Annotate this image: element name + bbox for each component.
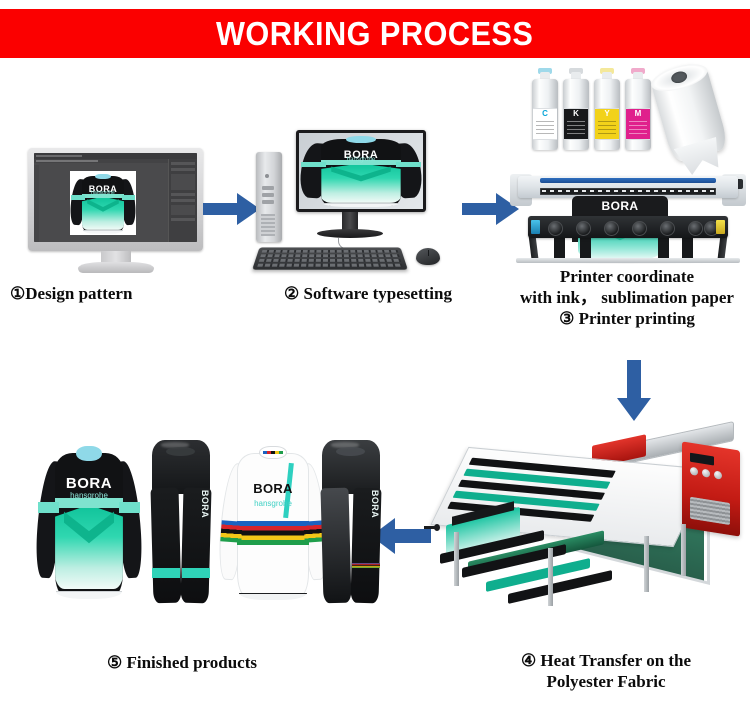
tights-brand-logo: BORA xyxy=(200,490,209,507)
power-led xyxy=(265,174,269,178)
jersey-cuff-left xyxy=(71,195,84,199)
printer-carriage-housing xyxy=(518,176,738,198)
machine-leg xyxy=(681,524,686,576)
tights-waist xyxy=(322,440,380,494)
working-process-infographic: WORKING PROCESS xyxy=(0,0,750,722)
printer-base xyxy=(516,258,740,263)
jersey-artwork: BORA hansgrohe xyxy=(36,440,142,602)
tights-artwork: BORA xyxy=(148,440,214,600)
ink-letter: C xyxy=(533,110,557,118)
jersey-brand-sublabel: hansgrohe xyxy=(87,191,119,196)
drive-slot xyxy=(262,193,274,197)
monitor-neck xyxy=(342,212,358,230)
tights-artwork: BORA xyxy=(318,440,384,600)
step-2-software-typesetting-visual: BORA hansgrohe xyxy=(250,130,450,275)
step-4-caption: ④ Heat Transfer on the Polyester Fabric xyxy=(486,650,726,692)
printer-blue-trim xyxy=(540,178,716,183)
sublimation-paper-roll xyxy=(648,57,741,179)
printer-print-slot xyxy=(540,188,716,195)
tights-leg-left xyxy=(320,488,351,604)
bottle-neck xyxy=(540,72,550,79)
cabinet-knob[interactable] xyxy=(702,469,710,478)
ink-bottle-group: C K Y xyxy=(532,62,652,150)
machine-leg xyxy=(548,548,553,606)
arrow-step3-to-step4-icon xyxy=(616,360,652,422)
ink-tank-cap xyxy=(604,221,619,236)
cabinet-display xyxy=(690,453,714,466)
step-5-finished-products-visual: BORA hansgrohe BORA xyxy=(24,440,364,610)
jersey-brand-sublabel: hansgrohe xyxy=(331,157,391,163)
bottle-label: Y xyxy=(595,108,619,140)
bottle-label: M xyxy=(626,108,650,140)
product-jersey-black-teal: BORA hansgrohe xyxy=(36,440,142,602)
tights-cuff-right xyxy=(182,568,210,578)
jersey-rainbow-stripes-sleeve-left xyxy=(220,520,243,542)
desktop-monitor: BORA hansgrohe xyxy=(296,130,426,212)
product-jersey-white-rainbow: BORA hansgrohe xyxy=(220,440,326,602)
computer-mouse xyxy=(416,248,440,265)
jersey-cuff-left xyxy=(38,502,59,513)
ink-letter: Y xyxy=(595,110,619,118)
wide-format-printer: BORA xyxy=(510,172,746,264)
ink-bottle-black: K xyxy=(563,72,589,150)
design-canvas: BORA hansgrohe xyxy=(70,171,136,235)
machine-leg xyxy=(644,536,649,592)
printed-fabric-brand: BORA xyxy=(576,200,664,212)
bottle-neck xyxy=(602,72,612,79)
product-tights-black: BORA xyxy=(148,440,214,600)
tights-rainbow-stripes xyxy=(352,563,380,568)
printer-fabric-strap xyxy=(658,236,669,260)
jersey-brand-logo: BORA xyxy=(243,482,302,495)
bottle-label: K xyxy=(564,108,588,140)
software-panels xyxy=(168,159,197,242)
monitor-base xyxy=(78,262,154,273)
jersey-rainbow-stripes xyxy=(237,521,309,545)
monitor-screen: BORA hansgrohe xyxy=(299,133,423,209)
jersey-cuff-right xyxy=(122,195,135,199)
bottle-neck xyxy=(633,72,643,79)
jersey-collar xyxy=(346,136,376,143)
ink-tank-cap xyxy=(548,221,563,236)
drive-slot xyxy=(262,200,274,204)
jersey-brand-sublabel: hansgrohe xyxy=(243,500,302,508)
printer-fabric-strap xyxy=(554,236,565,260)
jersey-artwork: BORA hansgrohe xyxy=(299,133,423,209)
jersey-hem xyxy=(83,230,124,234)
step-3-caption: Printer coordinate with ink， sublimation… xyxy=(508,266,746,329)
ink-tank-badge-right xyxy=(716,220,725,234)
ink-tank-badge-left xyxy=(531,220,540,234)
ink-bottle-magenta: M xyxy=(625,72,651,150)
printer-fabric-strap xyxy=(580,236,591,260)
tights-brand-logo: BORA xyxy=(370,490,379,507)
tights-pad xyxy=(166,447,195,457)
product-tights-black-grey: BORA xyxy=(318,440,384,600)
ink-tank-cap xyxy=(576,221,591,236)
jersey-cuff-left xyxy=(301,162,326,167)
monitor-base xyxy=(317,229,383,238)
ink-bottle-yellow: Y xyxy=(594,72,620,150)
cabinet-knob[interactable] xyxy=(690,467,698,476)
ink-tank-cap xyxy=(688,221,703,236)
jersey-collar xyxy=(259,446,287,459)
step-5-caption: ⑤ Finished products xyxy=(52,652,312,673)
jersey-brand-sublabel: hansgrohe xyxy=(64,492,115,500)
jersey-collar xyxy=(76,446,101,461)
cabinet-knob[interactable] xyxy=(714,470,722,479)
tights-waist xyxy=(152,440,210,494)
header-banner: WORKING PROCESS xyxy=(0,9,750,58)
drive-slot xyxy=(262,186,274,190)
printer-ink-tank-row xyxy=(528,216,728,238)
tights-pad xyxy=(336,447,365,457)
jersey-cuff-right xyxy=(396,162,421,167)
design-monitor: BORA hansgrohe xyxy=(28,148,203,251)
step-2-caption: ② Software typesetting xyxy=(258,283,478,304)
jersey-collar xyxy=(95,174,111,180)
keyboard xyxy=(252,247,408,269)
jersey-artwork: BORA hansgrohe xyxy=(70,171,136,235)
jersey-cuff-right xyxy=(119,502,140,513)
jersey-brand-logo: BORA xyxy=(64,476,115,491)
tower-vent xyxy=(261,214,275,236)
bottle-neck xyxy=(571,72,581,79)
ink-tank-cap xyxy=(632,221,647,236)
ink-letter: K xyxy=(564,110,588,118)
bottle-label: C xyxy=(533,108,557,140)
jersey-hem xyxy=(56,591,122,598)
page-title: WORKING PROCESS xyxy=(216,17,533,50)
tights-leg-left xyxy=(150,488,181,604)
computer-tower xyxy=(256,152,282,242)
tights-cuff-left xyxy=(152,568,180,578)
jersey-artwork: BORA hansgrohe xyxy=(220,440,326,602)
step-4-heat-transfer-visual xyxy=(432,424,744,620)
step-1-caption: ①Design pattern xyxy=(10,283,210,304)
jersey-hem xyxy=(239,593,307,600)
design-software-screen: BORA hansgrohe xyxy=(34,153,197,242)
ink-bottle-cyan: C xyxy=(532,72,558,150)
machine-leg xyxy=(454,532,459,586)
cabinet-vent xyxy=(690,497,730,525)
ink-tank-cap xyxy=(660,221,675,236)
jersey-hem xyxy=(323,203,400,207)
software-toolbar xyxy=(34,165,39,242)
calender-control-cabinet[interactable] xyxy=(682,441,740,536)
ink-letter: M xyxy=(626,110,650,118)
step-1-design-pattern-visual: BORA hansgrohe xyxy=(28,148,203,273)
step-3-printer-visual: C K Y xyxy=(510,62,746,262)
printer-fabric-strap xyxy=(682,236,693,260)
